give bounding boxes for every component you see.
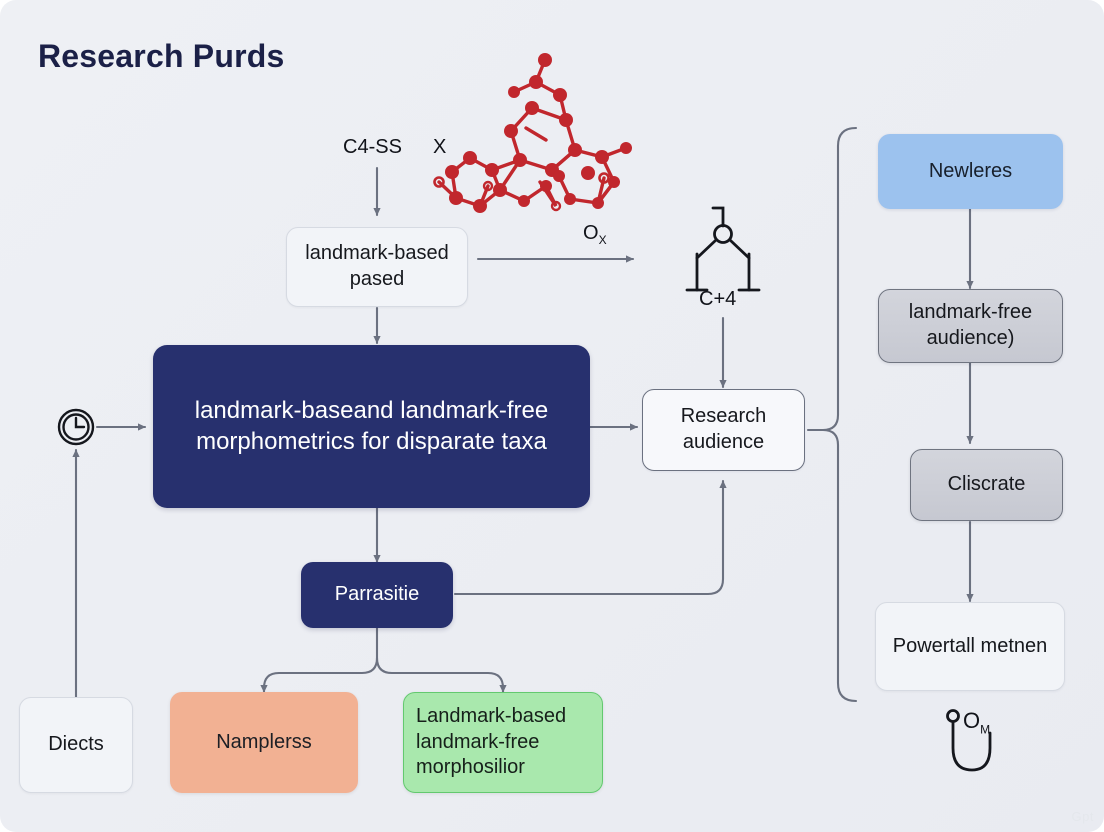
brace-lower xyxy=(823,430,856,701)
label-cplus4: C+4 xyxy=(699,288,736,311)
diagram-canvas: Research Purds C4-SS X OX C+4 OM landmar… xyxy=(0,0,1104,832)
page-title: Research Purds xyxy=(38,38,284,75)
label-x: X xyxy=(433,136,446,159)
label-om: OM xyxy=(963,708,990,736)
node-landmark-free-audience[interactable]: landmark-free audience) xyxy=(878,289,1063,363)
node-powertall[interactable]: Powertall metnen xyxy=(875,602,1065,691)
node-research-audience[interactable]: Research audience xyxy=(642,389,805,471)
molecule-atoms xyxy=(435,53,633,213)
label-c4ss: C4-SS xyxy=(343,136,402,159)
node-diects[interactable]: Diects xyxy=(19,697,133,793)
node-landmark-based-pased[interactable]: landmark-based pased xyxy=(286,227,468,307)
arrow-parrasitie-to-namplerss xyxy=(264,658,377,692)
label-om-base: O xyxy=(963,708,980,733)
label-ox-base: O xyxy=(583,222,599,244)
label-ox: OX xyxy=(583,222,607,247)
clock-icon xyxy=(59,410,93,444)
node-parrasitie[interactable]: Parrasitie xyxy=(301,562,453,628)
watermark: Gpt xyxy=(1072,809,1094,824)
node-landmark-green[interactable]: Landmark-based landmark-free morphosilio… xyxy=(403,692,603,793)
node-main[interactable]: landmark-baseand landmark-free morphomet… xyxy=(153,345,590,508)
label-om-sub: M xyxy=(980,722,990,736)
arrow-parrasitie-to-green xyxy=(377,658,503,692)
molecule-icon xyxy=(439,60,626,206)
brace-upper xyxy=(808,128,856,430)
node-newleres[interactable]: Newleres xyxy=(878,134,1063,209)
node-cliscrate[interactable]: Cliscrate xyxy=(910,449,1063,521)
node-namplerss[interactable]: Namplerss xyxy=(170,692,358,793)
label-ox-sub: X xyxy=(599,233,607,247)
pulley-icon xyxy=(687,208,759,290)
